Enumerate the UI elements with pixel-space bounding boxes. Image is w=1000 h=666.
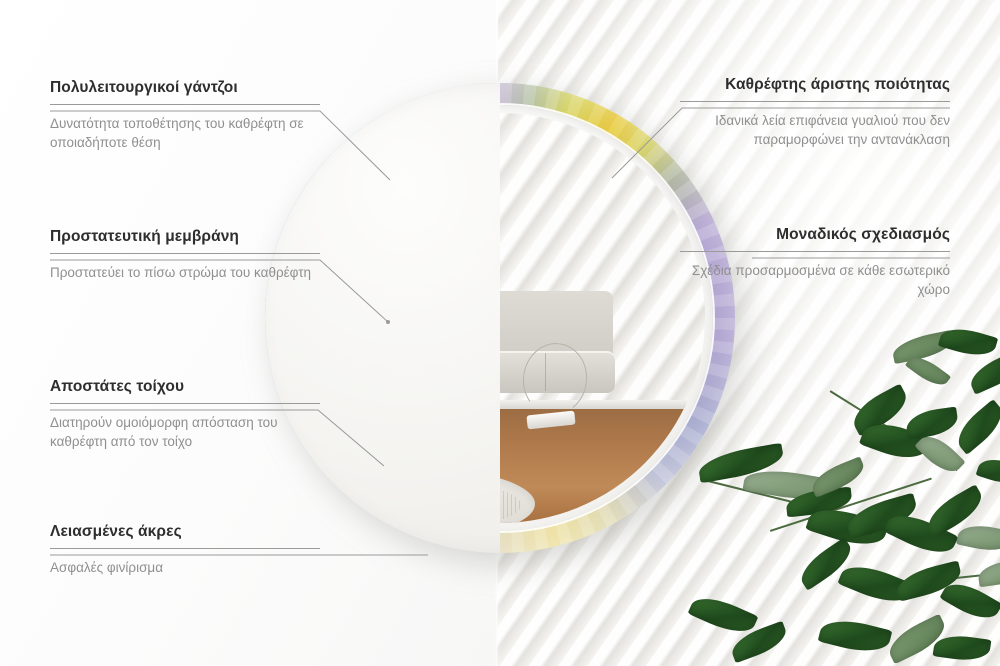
callout-hooks-title: Πολυλειτουργικοί γάντζοι (50, 79, 320, 97)
decorative-foliage (690, 330, 1000, 666)
callout-protective-film-title: Προστατευτική μεμβράνη (50, 228, 320, 246)
callout-polished-edges-title: Λειασμένες άκρες (50, 523, 320, 541)
callout-rule (50, 548, 320, 549)
callout-wall-spacers: Αποστάτες τοίχου Διατηρούν ομοιόμορφη απ… (50, 378, 320, 451)
callout-rule (680, 251, 950, 252)
callout-unique-design-title: Μοναδικός σχεδιασμός (680, 226, 950, 244)
callout-protective-film-description: Προστατεύει το πίσω στρώμα του καθρέφτη (50, 263, 320, 282)
callout-polished-edges: Λειασμένες άκρες Ασφαλές φινίρισμα (50, 523, 320, 577)
callout-wall-spacers-title: Αποστάτες τοίχου (50, 378, 320, 396)
round-mirror (265, 83, 735, 553)
callout-hooks: Πολυλειτουργικοί γάντζοι Δυνατότητα τοπο… (50, 79, 320, 152)
callout-unique-design-description: Σχέδια προσαρμοσμένα σε κάθε εσωτερικό χ… (680, 261, 950, 299)
callout-rule (50, 253, 320, 254)
callout-polished-edges-description: Ασφαλές φινίρισμα (50, 558, 320, 577)
callout-mirror-quality-description: Ιδανικά λεία επιφάνεια γυαλιού που δεν π… (680, 111, 950, 149)
callout-mirror-quality: Καθρέφτης άριστης ποιότητας Ιδανικά λεία… (680, 76, 950, 149)
callout-hooks-description: Δυνατότητα τοποθέτησης του καθρέφτη σε ο… (50, 114, 320, 152)
product-feature-infographic: Πολυλειτουργικοί γάντζοι Δυνατότητα τοπο… (0, 0, 1000, 666)
callout-unique-design: Μοναδικός σχεδιασμός Σχέδια προσαρμοσμέν… (680, 226, 950, 299)
callout-wall-spacers-description: Διατηρούν ομοιόμορφη απόσταση του καθρέφ… (50, 413, 320, 451)
callout-protective-film: Προστατευτική μεμβράνη Προστατεύει το πί… (50, 228, 320, 282)
mirror-back-panel (265, 83, 500, 553)
callout-mirror-quality-title: Καθρέφτης άριστης ποιότητας (680, 76, 950, 94)
callout-rule (680, 101, 950, 102)
callout-rule (50, 403, 320, 404)
back-panel-surface (265, 83, 500, 553)
callout-rule (50, 104, 320, 105)
